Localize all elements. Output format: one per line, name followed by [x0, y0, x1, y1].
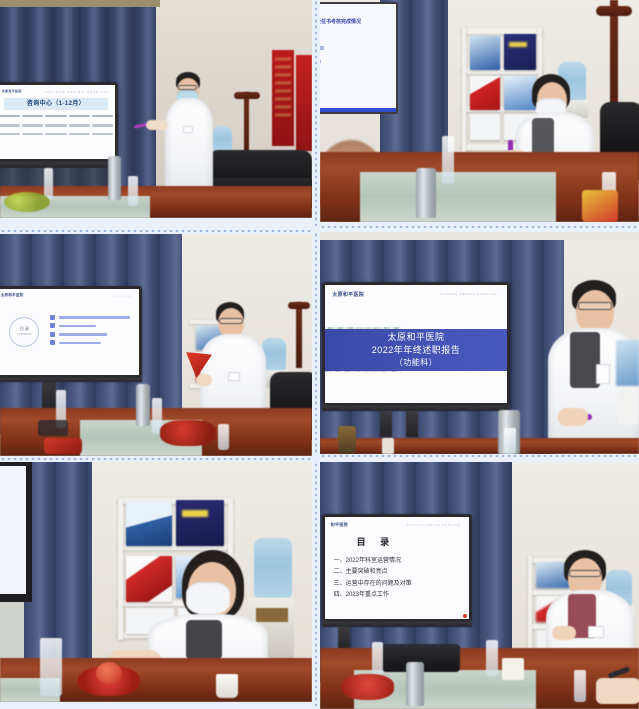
slide-logo: 太原和平医院 [332, 291, 364, 298]
photo-cell-2[interactable]: 责任书考核完成情况 [320, 0, 639, 222]
presenter-badge [228, 372, 240, 381]
separator-horizontal-2 [0, 230, 312, 232]
list-item [50, 340, 131, 345]
photo-cell-6[interactable]: 和平医院 TAIYUAN HEPING HOSPITAL 目 录 一、2022年… [320, 462, 639, 709]
list-item [50, 332, 131, 337]
water-dispenser [254, 538, 292, 598]
presenter-glasses [578, 302, 612, 310]
presenter-badge [588, 626, 604, 638]
list-item: 三、运营中存在的问题及对策 [334, 579, 412, 590]
separator-vertical-row1 [315, 0, 317, 226]
photo-collage: 太原和平医院 TAIYUAN HEPING HOSPITAL 咨询中心（1-12… [0, 0, 639, 709]
slide-toc-list: 一、2022年科室运营情况 二、主要突破和亮点 三、运营中存在的问题及对策 四、… [334, 556, 412, 602]
slide-corner-text: TAIYUAN HEPING HOSPITAL [440, 293, 498, 296]
presentation-display: 责任书考核完成情况 [320, 2, 398, 114]
slide-table-grid [0, 115, 113, 136]
fruit-tray [160, 420, 216, 446]
presenter-glasses [569, 570, 601, 577]
photo-cell-1[interactable]: 太原和平医院 TAIYUAN HEPING HOSPITAL 咨询中心（1-12… [0, 0, 312, 218]
list-item [50, 315, 131, 320]
slide-title-line-3: （功能科） [325, 357, 507, 369]
slide-toc-heading: 目 录 [357, 535, 396, 548]
slide-title-line-1: 太原和平医院 [325, 331, 507, 344]
presentation-display: 太原和平医院 TAIYUAN HEPING HOSPITAL 太原和平医院 20… [322, 282, 510, 406]
slide-partial-text: 责任书考核完成情况 [320, 18, 361, 25]
photo-cell-4[interactable]: 太原和平医院 TAIYUAN HEPING HOSPITAL 太原和平医院 20… [320, 232, 639, 454]
list-item: 一、2022年科室运营情况 [334, 556, 412, 567]
slide-logo: 太原和平医院 [1, 293, 24, 298]
slide-title-line-2: 2022年年终述职报告 [325, 344, 507, 357]
separator-vertical-row2 [315, 232, 317, 456]
presenter-badge [596, 364, 610, 384]
separator-vertical-row3 [315, 462, 317, 709]
slide-logo: 和平医院 [331, 522, 348, 528]
photo-cell-5[interactable] [0, 462, 312, 702]
presenter-glasses [178, 85, 197, 90]
separator-horizontal-3 [0, 458, 312, 460]
fruit-tray [342, 674, 394, 700]
slide-contents-circle: 目 录 CONTENTS [9, 317, 39, 347]
tissue-box [502, 658, 524, 680]
slide-circle-sub: CONTENTS [18, 333, 32, 336]
presenter-pointer [196, 374, 212, 386]
paper-cup [216, 674, 238, 698]
presentation-display: 太原和平医院 || || || || 目 录 CONTENTS [0, 286, 142, 378]
slide-logo: 太原和平医院 [2, 89, 22, 93]
slide-bullet-list [50, 315, 131, 349]
slide-corner-text: TAIYUAN HEPING HOSPITAL [46, 90, 110, 94]
list-item: 四、2023年重点工作 [334, 590, 412, 601]
presentation-display: 和平医院 TAIYUAN HEPING HOSPITAL 目 录 一、2022年… [322, 514, 472, 622]
slide-table-title: 咨询中心（1-12月） [4, 98, 108, 110]
presentation-display: 太原和平医院 TAIYUAN HEPING HOSPITAL 咨询中心（1-12… [0, 82, 118, 162]
slide-corner-text: || || || || [114, 295, 132, 298]
list-item [50, 323, 131, 328]
photo-cell-3[interactable]: 太原和平医院 || || || || 目 录 CONTENTS [0, 234, 312, 456]
separator-horizontal-4 [320, 455, 639, 457]
slide-title-band: 太原和平医院 2022年年终述职报告 （功能科） [325, 329, 507, 371]
list-item: 二、主要突破和亮点 [334, 567, 412, 578]
slide-corner-text: TAIYUAN HEPING HOSPITAL [406, 524, 461, 527]
separator-horizontal-1 [320, 226, 639, 228]
presenter-glasses [219, 318, 243, 324]
attendee-mask [186, 582, 230, 614]
water-bottle [40, 638, 62, 696]
slide-circle-label: 目 录 [20, 326, 29, 331]
coat-rack [296, 302, 302, 368]
